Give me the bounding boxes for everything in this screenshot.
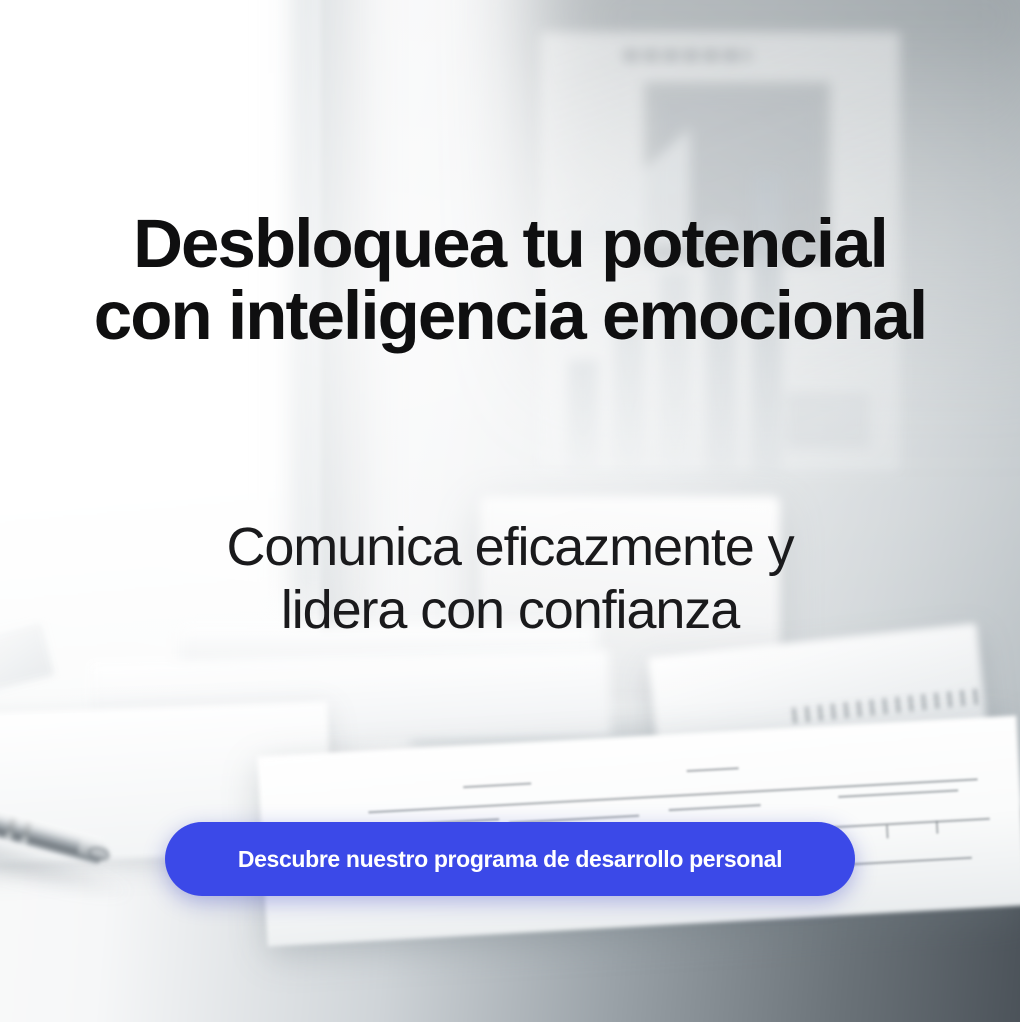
banner-content: Desbloquea tu potencial con inteligencia…	[0, 0, 1020, 1022]
cta-container: Descubre nuestro programa de desarrollo …	[0, 822, 1020, 896]
discover-program-button[interactable]: Descubre nuestro programa de desarrollo …	[165, 822, 855, 896]
subheadline: Comunica eficazmente y lidera con confia…	[0, 516, 1020, 642]
promo-banner: Desbloquea tu potencial con inteligencia…	[0, 0, 1020, 1022]
headline: Desbloquea tu potencial con inteligencia…	[0, 208, 1020, 352]
